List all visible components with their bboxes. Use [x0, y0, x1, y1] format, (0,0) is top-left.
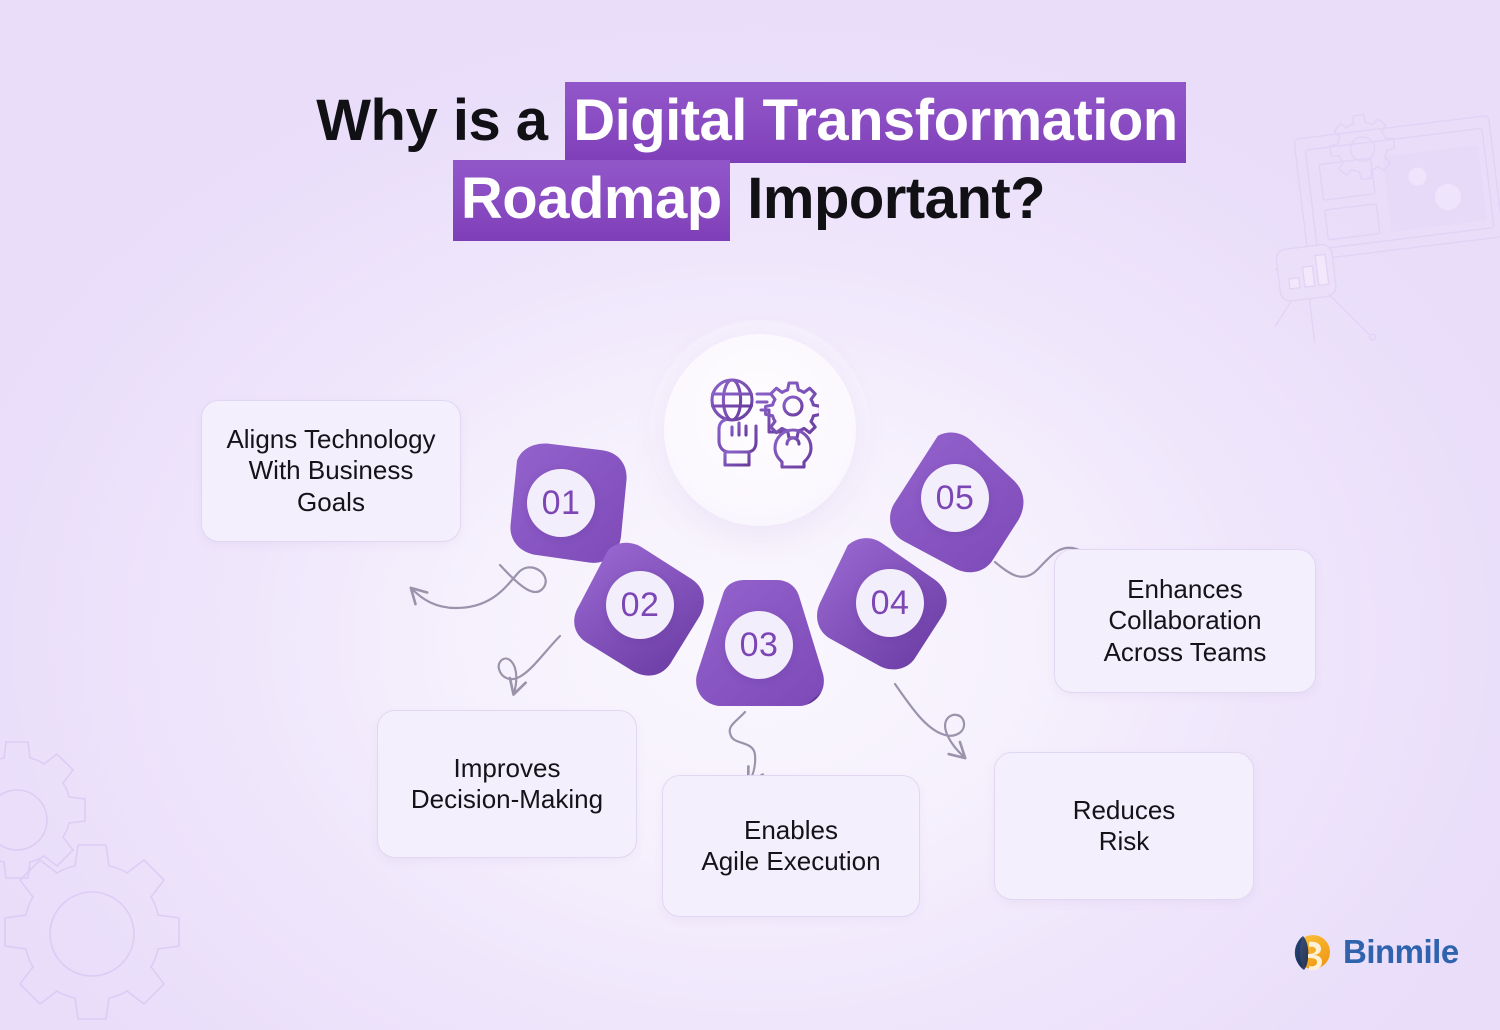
page-title: Why is a Digital Transformation Roadmap … [0, 92, 1500, 228]
card-aligns-technology[interactable]: Aligns Technology With Business Goals [201, 400, 461, 542]
infographic-canvas: Why is a Digital Transformation Roadmap … [0, 0, 1500, 1030]
digital-transformation-icon [701, 371, 819, 489]
title-segment-highlight: Roadmap [453, 160, 730, 241]
node-01-number: 01 [527, 469, 595, 537]
node-03[interactable]: 03 [689, 578, 831, 710]
title-segment-plain: Important? [730, 160, 1047, 241]
binmile-logo-mark [1288, 929, 1334, 975]
gear-outline-decoration [0, 735, 248, 1030]
arrow-node-04-to-card-4 [895, 684, 964, 757]
node-02-number: 02 [606, 571, 674, 639]
node-05-number: 05 [921, 464, 989, 532]
title-line-2: Roadmap Important? [0, 170, 1500, 228]
node-05[interactable]: 05 [888, 432, 1028, 574]
center-hub [664, 334, 856, 526]
card-reduces-risk[interactable]: Reduces Risk [994, 752, 1254, 900]
node-03-number: 03 [725, 611, 793, 679]
binmile-logo-text: Binmile [1343, 933, 1459, 971]
card-enhances-collaboration[interactable]: Enhances Collaboration Across Teams [1054, 549, 1316, 693]
title-line-1: Why is a Digital Transformation [0, 92, 1500, 150]
card-1-text: Aligns Technology With Business Goals [226, 424, 435, 518]
card-4-text: Reduces Risk [1073, 795, 1176, 857]
card-3-text: Enables Agile Execution [701, 815, 880, 877]
arrow-node-02-to-card-2 [499, 636, 560, 693]
title-segment-highlight: Digital Transformation [565, 82, 1186, 163]
card-2-text: Improves Decision-Making [411, 753, 603, 815]
card-5-text: Enhances Collaboration Across Teams [1104, 574, 1267, 668]
binmile-logo[interactable]: Binmile [1288, 928, 1459, 976]
title-segment-plain: Why is a [314, 82, 565, 163]
card-improves-decision-making[interactable]: Improves Decision-Making [377, 710, 637, 858]
arrow-node-03-to-card-3 [730, 712, 756, 782]
node-04-number: 04 [856, 569, 924, 637]
card-enables-agile-execution[interactable]: Enables Agile Execution [662, 775, 920, 917]
